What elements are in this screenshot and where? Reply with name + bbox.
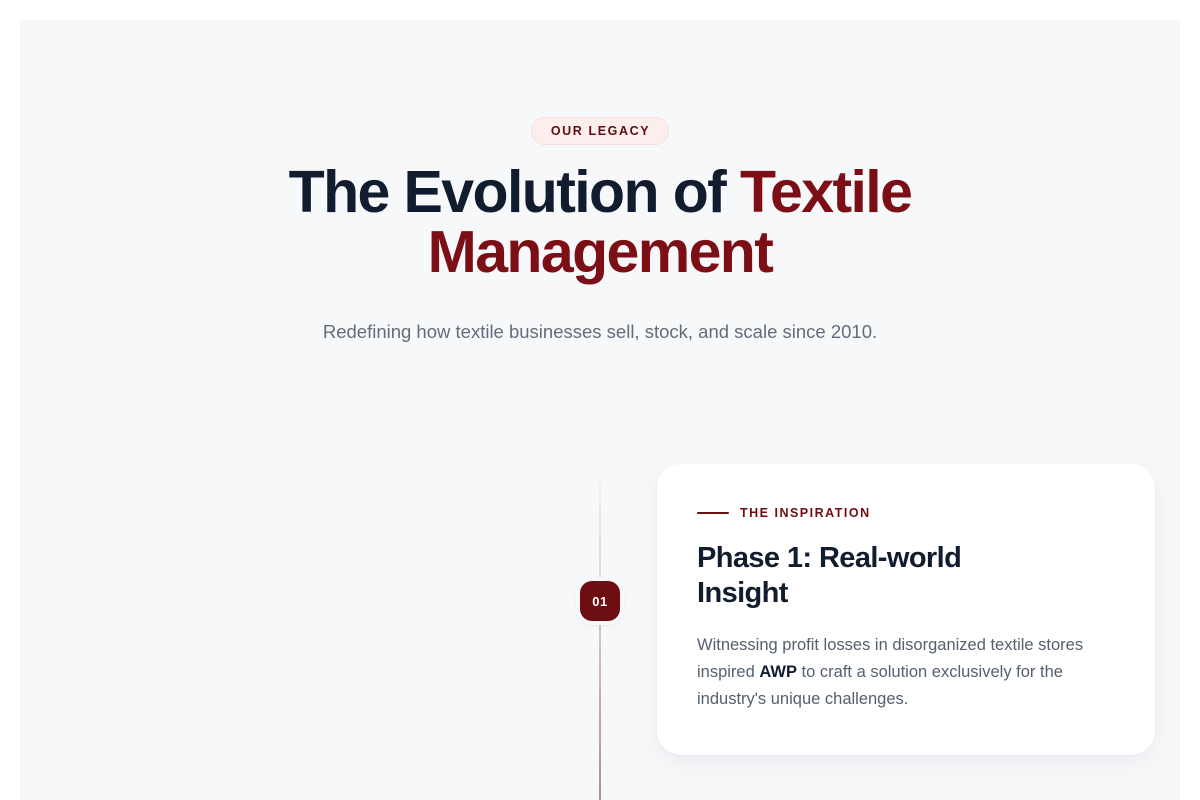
card-title: Phase 1: Real-world Insight — [697, 541, 1057, 613]
dash-icon — [697, 512, 729, 514]
section-eyebrow-badge: OUR LEGACY — [531, 117, 669, 145]
timeline-marker-01[interactable]: 01 — [580, 581, 620, 621]
page-title: The Evolution of Textile Management — [170, 162, 1030, 284]
legacy-section: OUR LEGACY The Evolution of Textile Mana… — [20, 20, 1180, 800]
card-eyebrow: THE INSPIRATION — [697, 507, 1115, 520]
card-body-emphasis: AWP — [759, 663, 797, 681]
timeline-track — [599, 473, 601, 800]
phase-card-01[interactable]: THE INSPIRATION Phase 1: Real-world Insi… — [657, 464, 1155, 755]
card-body: Witnessing profit losses in disorganized… — [697, 632, 1115, 712]
page-subtitle: Redefining how textile businesses sell, … — [210, 318, 990, 346]
card-eyebrow-label: THE INSPIRATION — [740, 507, 871, 520]
page-title-lead: The Evolution of — [289, 159, 740, 225]
timeline-marker-label: 01 — [592, 595, 607, 608]
hero-block: OUR LEGACY The Evolution of Textile Mana… — [20, 20, 1180, 346]
